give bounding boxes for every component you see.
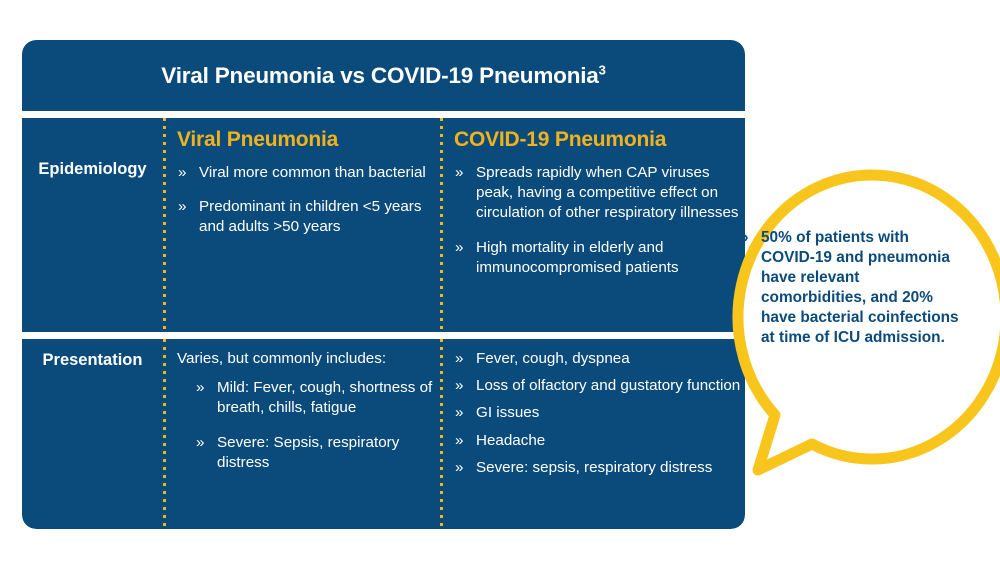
cell-epidemiology-viral: Viral Pneumonia »Viral more common than … <box>177 128 435 238</box>
list-item-text: High mortality in elderly and immunocomp… <box>476 239 679 276</box>
cell-lead-text: Varies, but commonly includes: <box>177 349 435 369</box>
guillemet-icon: » <box>740 228 749 248</box>
list-item: »High mortality in elderly and immunocom… <box>454 238 742 278</box>
card-title-band: Viral Pneumonia vs COVID-19 Pneumonia3 <box>22 40 745 111</box>
comparison-card: Viral Pneumonia vs COVID-19 Pneumonia3 E… <box>22 40 745 529</box>
list-item-text: Headache <box>476 432 545 449</box>
guillemet-icon: » <box>455 238 463 258</box>
list-item-text: Viral more common than bacterial <box>199 164 426 181</box>
guillemet-icon: » <box>455 376 463 396</box>
list-item: »Spreads rapidly when CAP viruses peak, … <box>454 163 742 224</box>
list-item: »Loss of olfactory and gustatory functio… <box>454 376 742 396</box>
guillemet-icon: » <box>455 403 463 423</box>
table-row-presentation: Presentation Varies, but commonly includ… <box>22 339 745 529</box>
guillemet-icon: » <box>455 163 463 183</box>
guillemet-icon: » <box>196 378 204 398</box>
guillemet-icon: » <box>455 458 463 478</box>
table-row-epidemiology: Epidemiology Viral Pneumonia »Viral more… <box>22 118 745 332</box>
list-item: »Viral more common than bacterial <box>177 163 435 183</box>
column-divider-2 <box>440 118 443 332</box>
column-header-viral: Viral Pneumonia <box>177 128 435 152</box>
list-item-text: Severe: sepsis, respiratory distress <box>476 459 712 476</box>
list-item: »Severe: sepsis, respiratory distress <box>454 458 742 478</box>
list-item: »Headache <box>454 431 742 451</box>
list-item: »GI issues <box>454 403 742 423</box>
cell-presentation-viral: Varies, but commonly includes: »Mild: Fe… <box>177 349 435 473</box>
callout-statistic-text: 50% of patients with COVID-19 and pneumo… <box>740 228 962 348</box>
cell-presentation-covid: »Fever, cough, dyspnea »Loss of olfactor… <box>454 349 742 485</box>
list-item-text: Predominant in children <5 years and adu… <box>199 198 421 235</box>
guillemet-icon: » <box>178 197 186 217</box>
row-label-epidemiology: Epidemiology <box>22 160 163 179</box>
list-item: »Predominant in children <5 years and ad… <box>177 197 435 237</box>
guillemet-icon: » <box>455 431 463 451</box>
page-title: Viral Pneumonia vs COVID-19 Pneumonia3 <box>161 63 605 89</box>
bullet-list-presentation-viral: »Mild: Fever, cough, shortness of breath… <box>177 378 435 473</box>
page-title-text: Viral Pneumonia vs COVID-19 Pneumonia <box>161 63 598 88</box>
bullet-list-epidemiology-covid: »Spreads rapidly when CAP viruses peak, … <box>454 163 742 278</box>
list-item: »Fever, cough, dyspnea <box>454 349 742 369</box>
list-item-text: Mild: Fever, cough, shortness of breath,… <box>217 379 432 416</box>
list-item: »Mild: Fever, cough, shortness of breath… <box>195 378 435 418</box>
column-header-covid: COVID-19 Pneumonia <box>454 128 742 152</box>
guillemet-icon: » <box>455 349 463 369</box>
list-item-text: GI issues <box>476 404 539 421</box>
page-title-footnote-marker: 3 <box>599 62 606 77</box>
callout-text-block: » 50% of patients with COVID-19 and pneu… <box>740 228 962 348</box>
list-item-text: Fever, cough, dyspnea <box>476 350 630 367</box>
guillemet-icon: » <box>196 433 204 453</box>
column-divider-1 <box>163 339 166 529</box>
list-item-text: Severe: Sepsis, respiratory distress <box>217 434 399 471</box>
cell-epidemiology-covid: COVID-19 Pneumonia »Spreads rapidly when… <box>454 128 742 278</box>
list-item: »Severe: Sepsis, respiratory distress <box>195 433 435 473</box>
callout-speech-bubble: » 50% of patients with COVID-19 and pneu… <box>700 168 1000 488</box>
row-label-presentation: Presentation <box>22 351 163 370</box>
column-divider-1 <box>163 118 166 332</box>
bullet-list-epidemiology-viral: »Viral more common than bacterial »Predo… <box>177 163 435 238</box>
column-divider-2 <box>440 339 443 529</box>
bullet-list-presentation-covid: »Fever, cough, dyspnea »Loss of olfactor… <box>454 349 742 478</box>
guillemet-icon: » <box>178 163 186 183</box>
